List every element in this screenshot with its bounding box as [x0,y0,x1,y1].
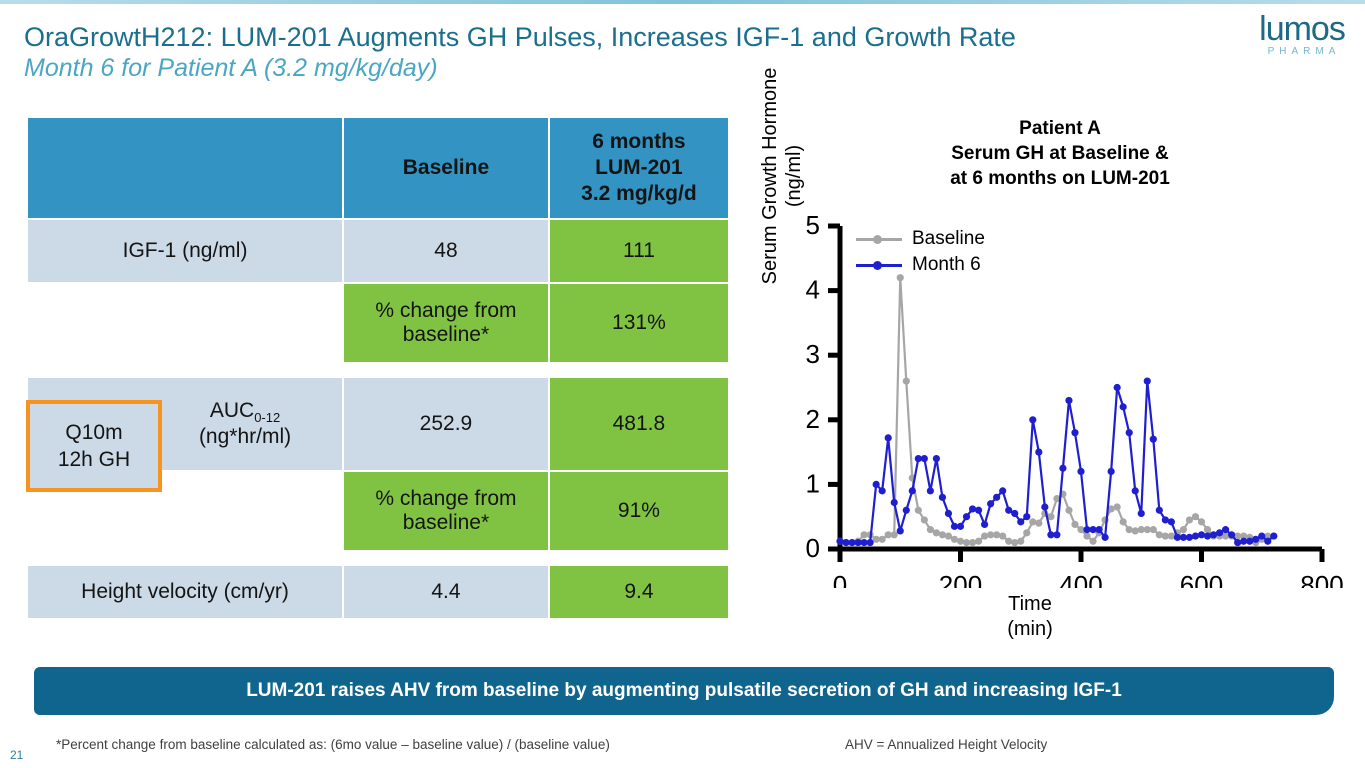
header-month6-line2: LUM-201 [550,155,728,181]
x-tick-label: 800 [1300,570,1343,588]
title-line-1: OraGrowtH212: LUM-201 Augments GH Pulses… [24,22,1264,52]
cell-auc-pctchange-value: 91% [550,472,730,552]
table-header-row: Baseline 6 months LUM-201 3.2 mg/kg/d [28,118,730,220]
chart-title-line2: Serum GH at Baseline & [830,141,1290,166]
spacer-cell [28,364,344,378]
cell-auc-baseline: 252.9 [344,378,550,472]
spacer-cell [550,552,730,566]
pct-change-line2: baseline* [344,511,548,535]
cell-hv-baseline: 4.4 [344,566,550,620]
banner-text: LUM-201 raises AHV from baseline by augm… [246,680,1122,702]
series-baseline [836,274,1277,546]
chart-x-axis-label: Time (min) [950,592,1110,642]
auc-label-units: (ng*hr/ml) [148,425,342,449]
top-accent-bar [0,0,1365,4]
chart-title: Patient A Serum GH at Baseline & at 6 mo… [830,116,1290,191]
legend-label-month6: Month 6 [912,254,981,276]
chart-title-line1: Patient A [830,116,1290,141]
y-tick-label: 0 [806,533,820,563]
header-cell-baseline: Baseline [344,118,550,220]
footnote-ahv: AHV = Annualized Height Velocity [845,737,1047,752]
y-tick-label: 4 [806,275,820,305]
row-label-igf1: IGF-1 (ng/ml) [28,220,344,284]
legend-label-baseline: Baseline [912,228,985,250]
table-spacer [28,364,730,378]
chart-title-line3: at 6 months on LUM-201 [830,166,1290,191]
row-label-height-velocity: Height velocity (cm/yr) [28,566,344,620]
cell-auc-pctchange-label: % change from baseline* [344,472,550,552]
x-axis-label-units: (min) [950,617,1110,642]
pct-change-line1: % change from [344,487,548,511]
legend-swatch-month6 [856,264,902,267]
y-tick-label: 3 [806,339,820,369]
chart-plot-area: 0123450200400600800 [760,208,1360,588]
spacer-cell [28,552,344,566]
chart-legend: Baseline Month 6 [856,226,985,278]
y-tick-label: 1 [806,468,820,498]
header-cell-blank [28,118,344,220]
spacer-cell [344,552,550,566]
page-title: OraGrowtH212: LUM-201 Augments GH Pulses… [24,22,1264,83]
table-row: % change from baseline* 131% [28,284,730,364]
header-cell-month6: 6 months LUM-201 3.2 mg/kg/d [550,118,730,220]
cell-igf1-baseline: 48 [344,220,550,284]
page-number: 21 [10,748,23,762]
table-spacer [28,552,730,566]
legend-item-month6: Month 6 [856,252,985,278]
y-tick-label: 5 [806,210,820,240]
header-month6-line3: 3.2 mg/kg/d [550,181,728,207]
cell-igf1-month6: 111 [550,220,730,284]
table-row: Height velocity (cm/yr) 4.4 9.4 [28,566,730,620]
pct-change-line2: baseline* [344,323,548,347]
logo-wordmark: lumos [1247,12,1357,46]
lumos-pharma-logo: lumos PHARMA [1247,12,1357,74]
x-tick-label: 200 [939,570,982,588]
y-tick-label: 2 [806,404,820,434]
cell-auc-month6: 481.8 [550,378,730,472]
header-month6-line1: 6 months [550,129,728,155]
pct-change-line1: % change from [344,299,548,323]
results-table: Baseline 6 months LUM-201 3.2 mg/kg/d IG… [28,118,730,620]
summary-banner: LUM-201 raises AHV from baseline by augm… [34,667,1334,715]
q10m-12h-gh-highlight-box: Q10m 12h GH [26,400,162,492]
title-line-2: Month 6 for Patient A (3.2 mg/kg/day) [24,54,1264,83]
auc-label-main: AUC0-12 [148,399,342,425]
series-month-6 [836,377,1277,546]
x-axis-label-text: Time [950,592,1110,617]
legend-item-baseline: Baseline [856,226,985,252]
cell-hv-month6: 9.4 [550,566,730,620]
x-tick-label: 0 [833,570,847,588]
x-tick-label: 600 [1180,570,1223,588]
cell-igf1-pctchange-label: % change from baseline* [344,284,550,364]
table-row: IGF-1 (ng/ml) 48 111 [28,220,730,284]
serum-gh-chart: Patient A Serum GH at Baseline & at 6 mo… [760,108,1360,668]
legend-swatch-baseline [856,238,902,241]
footnote-percent-change: *Percent change from baseline calculated… [56,737,610,752]
q10m-line2: 12h GH [58,446,130,473]
spacer-cell [344,364,550,378]
spacer-cell [550,364,730,378]
row-label-empty [28,284,344,364]
q10m-line1: Q10m [58,419,130,446]
auc-subscript: 0-12 [254,410,280,425]
x-tick-label: 400 [1059,570,1102,588]
cell-igf1-pctchange-value: 131% [550,284,730,364]
